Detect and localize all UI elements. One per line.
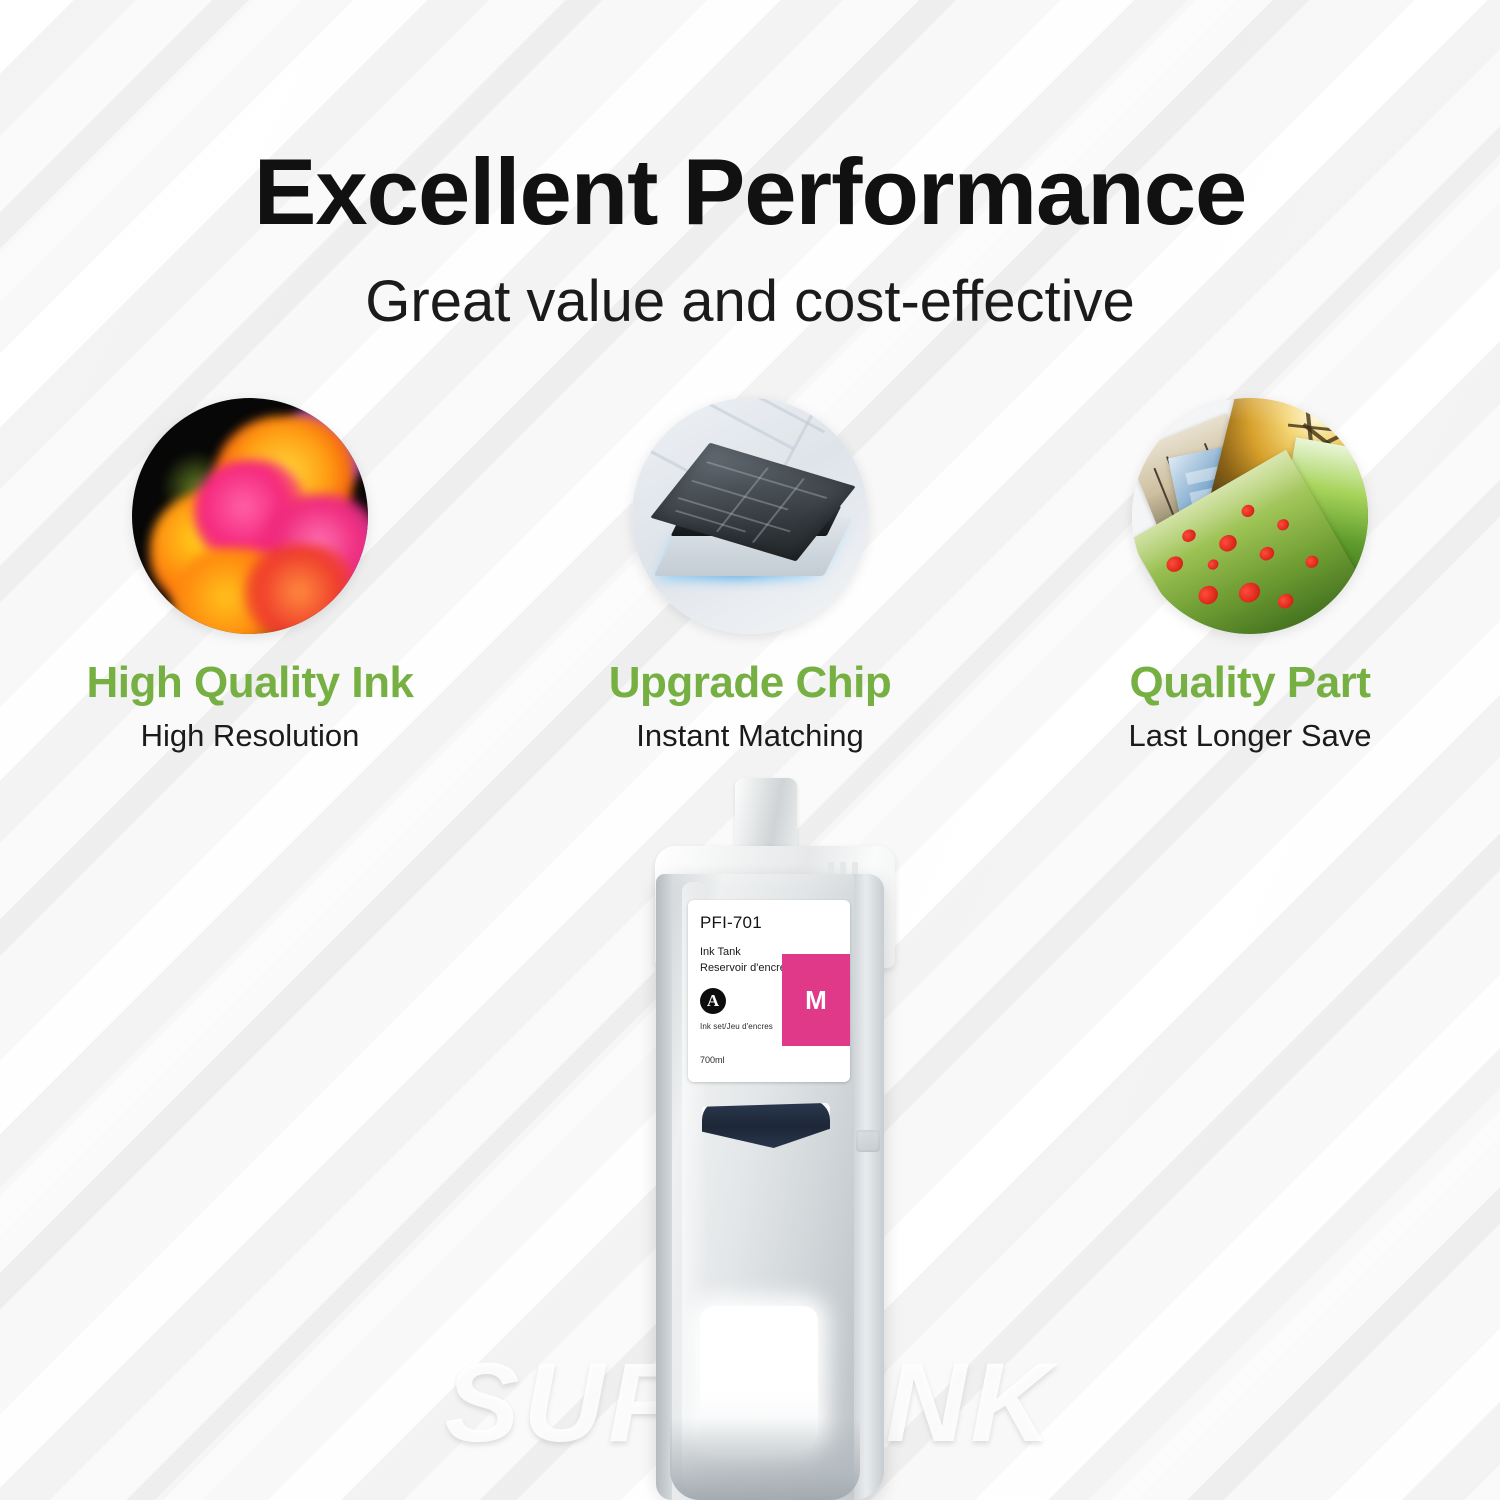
cartridge-label: PFI-701 Ink Tank Reservoir d'encre A Ink… <box>688 900 850 1082</box>
label-a-circle-logo-icon: A <box>700 988 726 1014</box>
feature-title: Quality Part <box>1130 660 1371 706</box>
page-subtitle: Great value and cost-effective <box>0 268 1500 335</box>
feature-subtitle: High Resolution <box>141 718 360 754</box>
feature-upgrade-chip: Upgrade Chip Instant Matching <box>500 398 1000 754</box>
cartridge-bottom-shading <box>670 1418 860 1500</box>
feature-subtitle: Instant Matching <box>636 718 863 754</box>
feature-quality-part: Quality Part Last Longer Save <box>1000 398 1500 754</box>
label-ink-tank-en: Ink Tank <box>700 946 741 958</box>
feature-image-chip <box>632 398 868 634</box>
label-volume: 700ml <box>700 1055 725 1065</box>
label-color-letter: M <box>805 985 827 1016</box>
label-model-number: PFI-701 <box>700 913 762 933</box>
photo-collage-icon <box>1132 398 1368 634</box>
label-ink-set-text: Ink set/Jeu d'encres <box>700 1022 773 1031</box>
ink-cartridge-product-image: PFI-701 Ink Tank Reservoir d'encre A Ink… <box>640 778 910 1500</box>
feature-title: Upgrade Chip <box>609 660 891 706</box>
microchip-icon <box>632 398 868 634</box>
cartridge-right-edge <box>854 874 884 1500</box>
feature-high-quality-ink: High Quality Ink High Resolution <box>0 398 500 754</box>
ink-splash-icon <box>132 398 368 634</box>
feature-image-ink-splash <box>132 398 368 634</box>
promo-page: Excellent Performance Great value and co… <box>0 0 1500 1500</box>
cartridge-left-edge <box>656 874 672 1500</box>
feature-image-photo-collage <box>1132 398 1368 634</box>
feature-row: High Quality Ink High Resolution <box>0 398 1500 788</box>
feature-subtitle: Last Longer Save <box>1128 718 1371 754</box>
cartridge-side-tab <box>856 1130 880 1152</box>
feature-title: High Quality Ink <box>87 660 414 706</box>
label-color-swatch: M <box>782 954 850 1046</box>
label-ink-tank-fr: Reservoir d'encre <box>700 962 786 974</box>
page-title: Excellent Performance <box>0 138 1500 246</box>
